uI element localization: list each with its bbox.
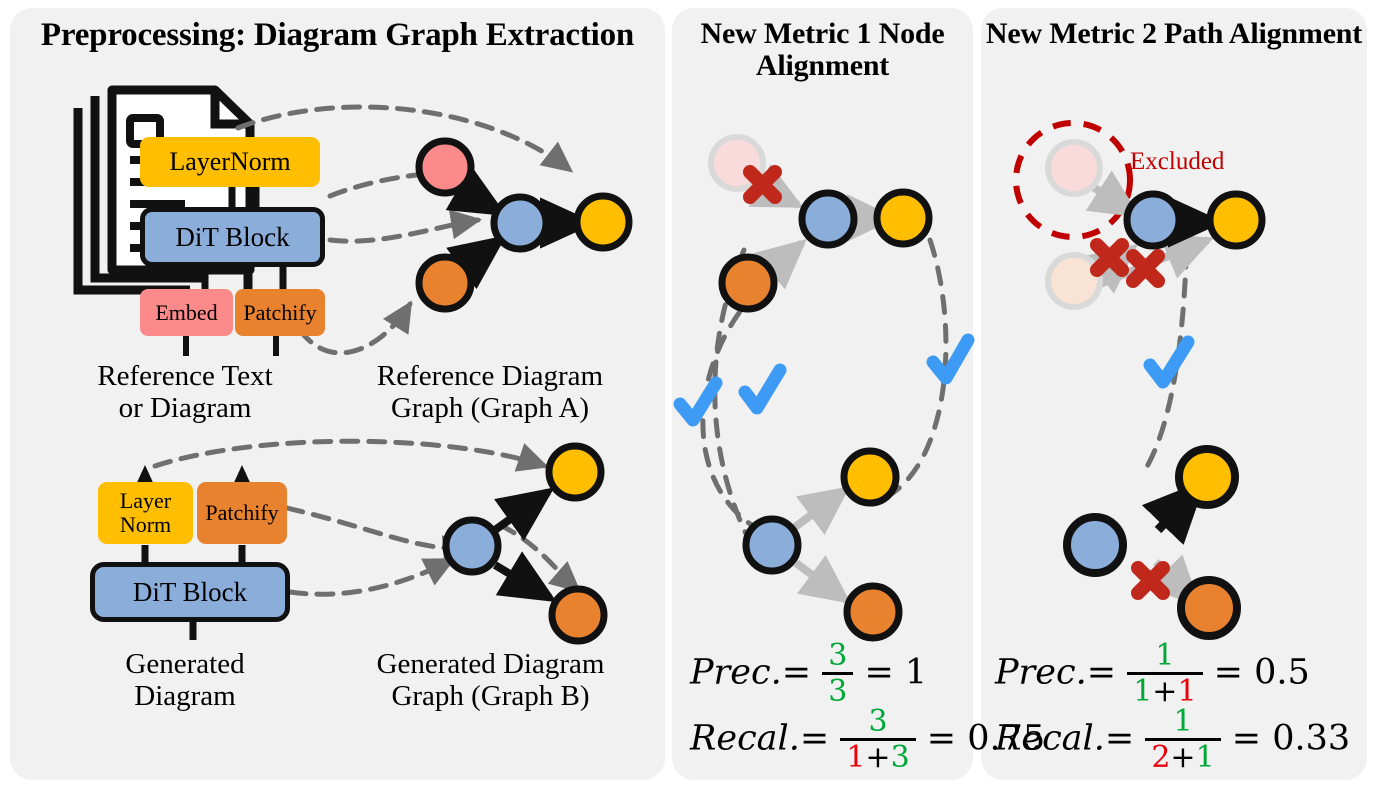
formula-precision-panel3-num: 1 [1127,640,1202,675]
gen-block-patchify-label: Patchify [205,500,278,526]
gen-block-layernorm-label: Layer Norm [120,489,171,537]
panel-title-preprocessing: Preprocessing: Diagram Graph Extraction [10,18,665,54]
formula-recall-panel2-lhs: Recal. [690,718,800,758]
excluded-label: Excluded [1130,148,1224,176]
formula-precision-panel2-den: 3 [822,675,853,708]
figure-canvas: Preprocessing: Diagram Graph Extraction … [0,0,1377,800]
caption-reference-graph: Reference Diagram Graph (Graph A) [330,360,650,425]
block-embed: Embed [140,289,233,336]
gen-block-dit-block-label: DiT Block [133,577,247,608]
formula-recall-panel2-num: 3 [840,706,915,741]
formula-recall-panel3: Recal.= 1 2+1 = 0.33 [995,706,1350,774]
caption-generated-graph: Generated Diagram Graph (Graph B) [328,648,653,713]
gen-block-dit-block: DiT Block [90,562,290,622]
formula-precision-panel3: Prec.= 1 1+1 = 0.5 [995,640,1310,708]
formula-precision-panel2-result: 1 [905,652,927,692]
formula-precision-panel2-lhs: Prec. [690,652,782,692]
formula-recall-panel3-den: 2+1 [1145,741,1220,774]
formula-recall-panel3-result: 0.33 [1272,718,1350,758]
block-dit-block-label: DiT Block [175,222,289,253]
block-embed-label: Embed [155,300,217,326]
block-layernorm: LayerNorm [140,137,320,187]
formula-precision-panel3-lhs: Prec. [995,652,1087,692]
formula-precision-panel2-num: 3 [822,640,853,675]
formula-precision-panel3-result: 0.5 [1254,652,1310,692]
block-patchify-label: Patchify [243,300,316,326]
block-patchify: Patchify [235,289,325,336]
formula-recall-panel2: Recal.= 3 1+3 = 0.75 [690,706,1045,774]
caption-generated-diagram: Generated Diagram [35,648,335,713]
gen-block-patchify: Patchify [197,482,287,544]
formula-recall-panel3-num: 1 [1145,706,1220,741]
block-dit-block: DiT Block [140,207,325,267]
formula-recall-panel3-lhs: Recal. [995,718,1105,758]
formula-precision-panel3-den: 1+1 [1127,675,1202,708]
formula-recall-panel2-den: 1+3 [840,741,915,774]
block-layernorm-label: LayerNorm [169,147,290,177]
panel-title-node-alignment: New Metric 1 Node Alignment [672,18,973,83]
gen-block-layernorm: Layer Norm [98,482,193,544]
panel-title-path-alignment: New Metric 2 Path Alignment [981,18,1367,50]
caption-reference-text: Reference Text or Diagram [35,360,335,425]
formula-precision-panel2: Prec.= 3 3 = 1 [690,640,927,708]
